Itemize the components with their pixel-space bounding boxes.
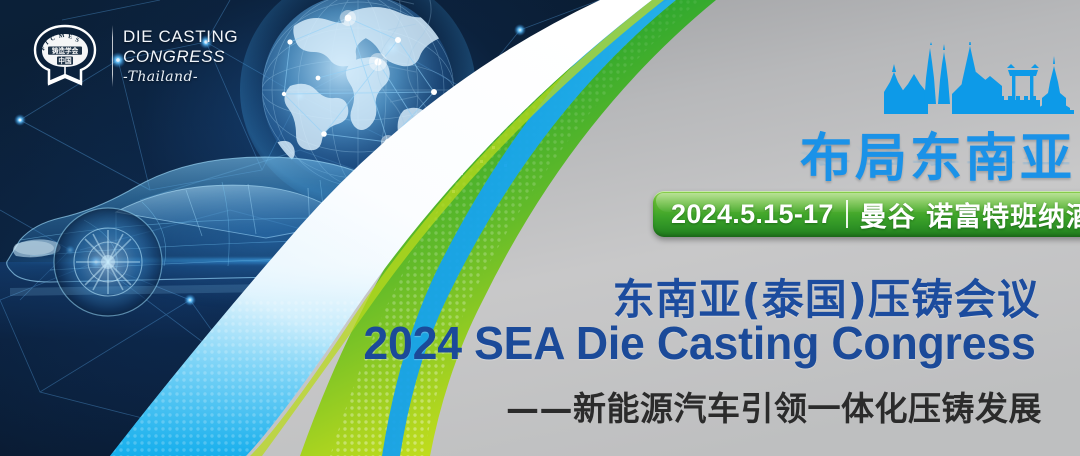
ficmes-logo-block: F I C M E S 铸造学会 中国 DIE CASTING CO bbox=[28, 16, 243, 96]
ficmes-crest-logo: F I C M E S 铸造学会 中国 bbox=[28, 22, 102, 90]
logo-line-thailand: -Thailand- bbox=[123, 70, 238, 85]
event-venue: 曼谷 诺富特班纳酒店 bbox=[860, 195, 1080, 234]
pill-separator bbox=[846, 200, 848, 228]
title-english: 2024 SEA Die Casting Congress bbox=[353, 316, 1046, 370]
crest-cn-line2: 中国 bbox=[58, 56, 72, 65]
logo-line-die-casting: DIE CASTING bbox=[123, 28, 238, 46]
svg-text:E: E bbox=[68, 33, 73, 40]
logo-text-stack: DIE CASTING CONGRESS -Thailand- bbox=[123, 27, 238, 85]
svg-text:M: M bbox=[58, 32, 65, 40]
logo-divider bbox=[112, 25, 113, 87]
headline-buju-dongnanya: 布局东南亚 bbox=[800, 116, 1075, 191]
wireframe-car bbox=[0, 120, 550, 320]
thai-temple-skyline-icon bbox=[880, 42, 1080, 114]
congress-banner: F I C M E S 铸造学会 中国 DIE CASTING CO bbox=[0, 0, 1080, 456]
event-date: 2024.5.15-17 bbox=[671, 199, 834, 230]
crest-cn-line1: 铸造学会 bbox=[52, 46, 79, 55]
date-venue-pill: 2024.5.15-17 曼谷 诺富特班纳酒店 bbox=[653, 191, 1080, 237]
title-subtitle: ——新能源汽车引领一体化压铸发展 bbox=[506, 382, 1042, 430]
logo-line-congress: CONGRESS bbox=[123, 48, 238, 66]
